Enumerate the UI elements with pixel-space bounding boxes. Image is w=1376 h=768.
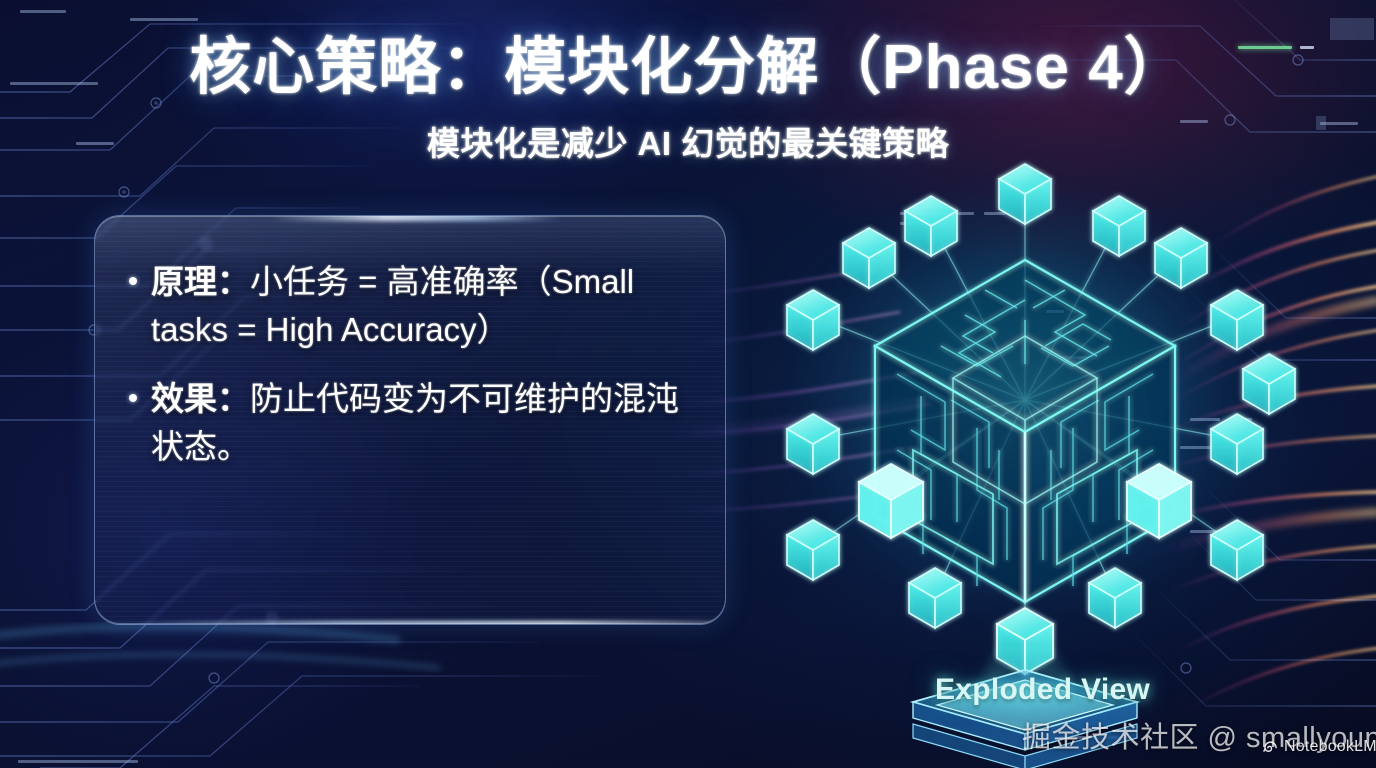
list-item: 原理：小任务 = 高准确率（Small tasks = High Accurac… (129, 258, 701, 353)
content-glass-panel: 原理：小任务 = 高准确率（Small tasks = High Accurac… (94, 215, 726, 625)
bullet-text: 原理：小任务 = 高准确率（Small tasks = High Accurac… (151, 258, 701, 353)
exploded-view-label: Exploded View (935, 673, 1150, 707)
bullet-dot-icon (129, 277, 137, 285)
bullet-list: 原理：小任务 = 高准确率（Small tasks = High Accurac… (129, 258, 701, 492)
list-item: 效果：防止代码变为不可维护的混沌状态。 (129, 375, 701, 470)
page-title: 核心策略：模块化分解（Phase 4） (0, 36, 1376, 99)
title-block: 核心策略：模块化分解（Phase 4） 模块化是减少 AI 幻觉的最关键策略 (0, 36, 1376, 165)
exploded-cube-graphic (745, 150, 1305, 710)
notebooklm-badge: NotebookLM (1262, 738, 1376, 756)
notebooklm-spiral-icon (1262, 739, 1279, 756)
notebooklm-label: NotebookLM (1284, 738, 1376, 756)
bullet-text: 效果：防止代码变为不可维护的混沌状态。 (151, 375, 701, 470)
bullet-dot-icon (129, 394, 137, 402)
bullet-lead: 原理： (151, 263, 250, 300)
bullet-lead: 效果： (151, 380, 250, 417)
slide-canvas: 核心策略：模块化分解（Phase 4） 模块化是减少 AI 幻觉的最关键策略 原… (0, 0, 1376, 768)
